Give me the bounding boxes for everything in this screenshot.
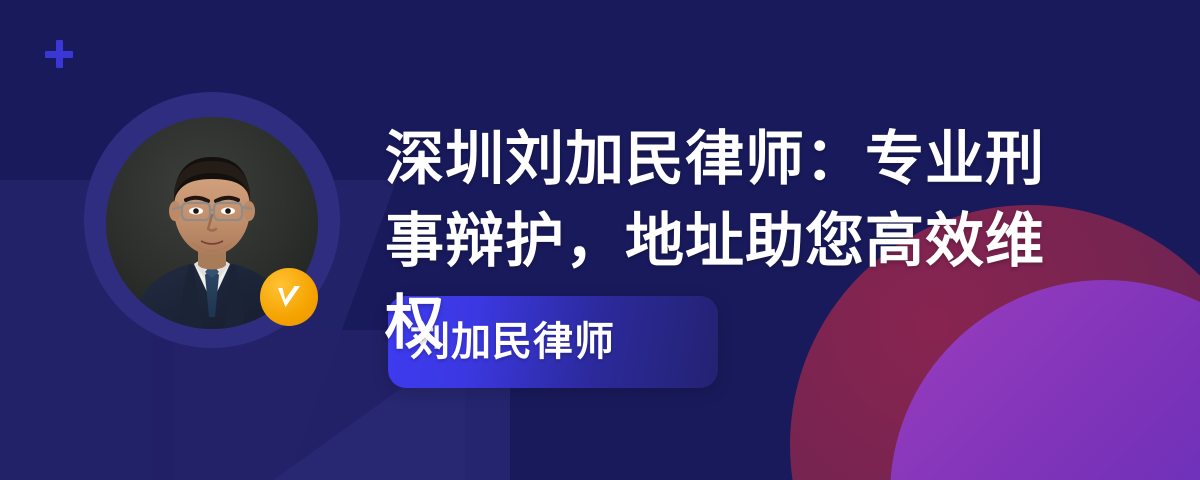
avatar[interactable]: [84, 92, 340, 348]
lawyer-profile-banner: 刘加民律师 深圳刘加民律师：专业刑事辩护，地址助您高效维权: [0, 0, 1200, 480]
verified-badge-icon: [260, 268, 318, 326]
plus-icon: [45, 40, 73, 68]
page-title: 深圳刘加民律师：专业刑事辩护，地址助您高效维权: [385, 118, 1075, 364]
